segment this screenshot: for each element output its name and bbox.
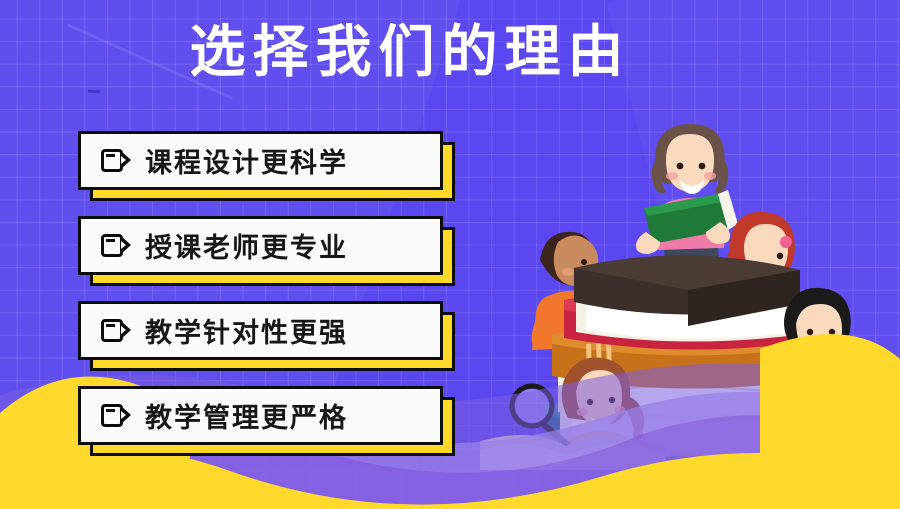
feature-item[interactable]: 教学管理更严格 xyxy=(78,386,443,445)
page-title: 选择我们的理由 xyxy=(0,18,820,88)
feature-card[interactable]: 课程设计更科学 xyxy=(78,131,443,190)
feature-item[interactable]: 教学针对性更强 xyxy=(78,301,443,360)
video-camera-icon xyxy=(101,149,131,172)
feature-card[interactable]: 教学针对性更强 xyxy=(78,301,443,360)
feature-label: 教学管理更严格 xyxy=(145,396,348,435)
feature-card[interactable]: 教学管理更严格 xyxy=(78,386,443,445)
promo-banner: 选择我们的理由 课程设计更科学 xyxy=(0,0,900,509)
feature-item[interactable]: 课程设计更科学 xyxy=(78,131,443,190)
feature-card[interactable]: 授课老师更专业 xyxy=(78,216,443,275)
feature-label: 教学针对性更强 xyxy=(145,311,348,350)
feature-label: 授课老师更专业 xyxy=(145,226,348,265)
video-camera-icon xyxy=(101,404,131,427)
feature-item[interactable]: 授课老师更专业 xyxy=(78,216,443,275)
feature-list: 课程设计更科学 授课老师更专业 xyxy=(78,131,458,471)
video-camera-icon xyxy=(101,319,131,342)
feature-label: 课程设计更科学 xyxy=(145,141,348,180)
video-camera-icon xyxy=(101,234,131,257)
